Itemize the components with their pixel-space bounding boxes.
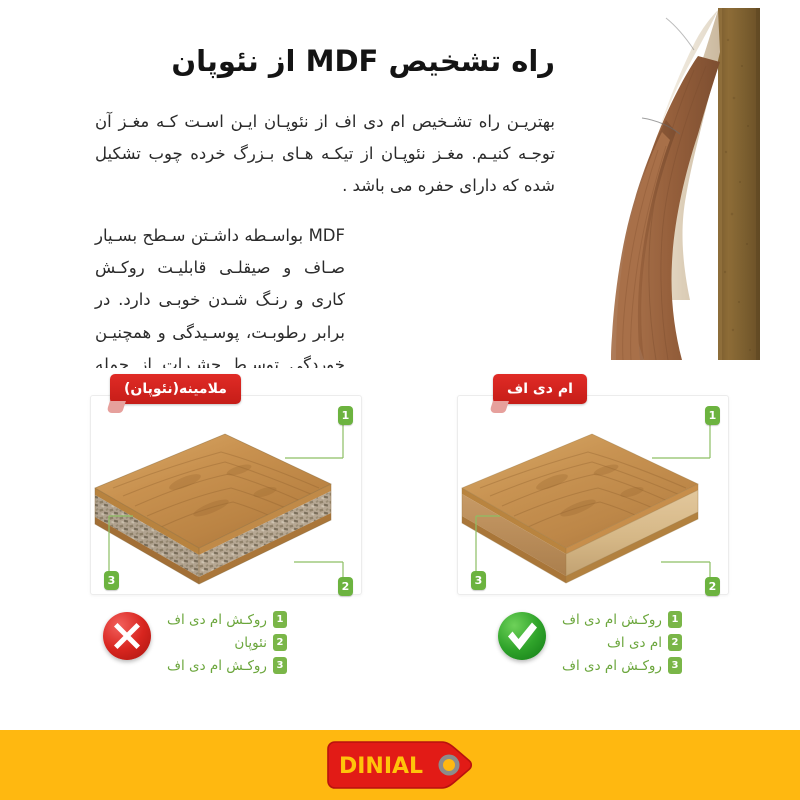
list-item: 3 روکـش ام دی اف (167, 654, 287, 677)
right-product-card: 1 2 3 (457, 395, 729, 595)
legend-label: روکـش ام دی اف (562, 612, 662, 628)
list-item: 1 روکـش ام دی اف (167, 608, 287, 631)
list-item: 3 روکـش ام دی اف (562, 654, 682, 677)
intro-paragraph-1: بهتریـن راه تشـخیص ام دی اف از نئوپـان ا… (95, 106, 555, 203)
right-card-badge: ام دی اف (493, 374, 587, 404)
left-verdict-row: 1 روکـش ام دی اف 2 نئوپان 3 روکـش ام دی … (95, 600, 405, 700)
legend-number: 1 (668, 611, 682, 628)
left-marker-1: 1 (338, 406, 353, 425)
left-marker-2: 2 (338, 577, 353, 596)
legend-label: ام دی اف (607, 635, 662, 651)
right-marker-2: 2 (705, 577, 720, 596)
legend-number: 2 (273, 634, 287, 651)
right-marker-3: 3 (471, 571, 486, 590)
left-product-card: 1 2 3 (90, 395, 362, 595)
comparison-section: ملامینه(نئوپان) (0, 368, 800, 730)
page-title: راه تشخیص MDF از نئوپان (95, 40, 555, 84)
right-marker-1: 1 (705, 406, 720, 425)
veneer-layers-photo (570, 0, 800, 360)
mdf-board-illustration (458, 396, 728, 594)
intro-section: راه تشخیص MDF از نئوپان بهتریـن راه تشـخ… (0, 0, 800, 370)
legend-number: 3 (668, 657, 682, 674)
list-item: 2 ام دی اف (562, 631, 682, 654)
right-verdict-row: 1 روکـش ام دی اف 2 ام دی اف 3 روکـش ام د… (490, 600, 800, 700)
legend-label: روکـش ام دی اف (562, 658, 662, 674)
legend-label: روکـش ام دی اف (167, 658, 267, 674)
check-icon (498, 612, 546, 660)
list-item: 2 نئوپان (167, 631, 287, 654)
cross-icon (103, 612, 151, 660)
list-item: 1 روکـش ام دی اف (562, 608, 682, 631)
legend-number: 1 (273, 611, 287, 628)
legend-number: 2 (668, 634, 682, 651)
legend-label: روکـش ام دی اف (167, 612, 267, 628)
legend-number: 3 (273, 657, 287, 674)
footer-bar: DINIAL (0, 730, 800, 800)
left-marker-3: 3 (104, 571, 119, 590)
brand-logo[interactable]: DINIAL (324, 739, 476, 791)
legend-label: نئوپان (234, 635, 267, 651)
right-legend: 1 روکـش ام دی اف 2 ام دی اف 3 روکـش ام د… (562, 608, 682, 677)
left-legend: 1 روکـش ام دی اف 2 نئوپان 3 روکـش ام دی … (167, 608, 287, 677)
left-card-badge: ملامینه(نئوپان) (110, 374, 241, 404)
infographic-page: راه تشخیص MDF از نئوپان بهتریـن راه تشـخ… (0, 0, 800, 800)
particle-board-illustration (91, 396, 361, 594)
brand-logo-text: DINIAL (339, 754, 423, 779)
